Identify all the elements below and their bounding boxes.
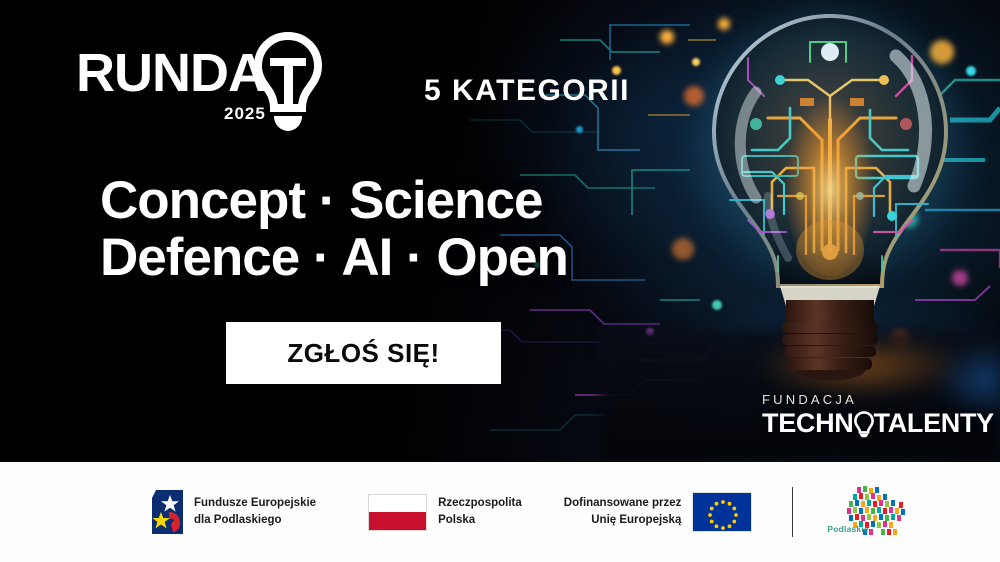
eu-line-2: Unię Europejską	[564, 512, 682, 529]
rzeczpospolita-line-1: Rzeczpospolita	[438, 495, 522, 512]
foundation-name: TECHN TALENTY	[762, 408, 977, 439]
wordmark-text: RUNDA	[76, 48, 266, 99]
rzeczpospolita-line-2: Polska	[438, 512, 522, 529]
bulb-glow	[690, 10, 970, 300]
foundation-prefix: FUNDACJA	[762, 392, 977, 407]
lightbulb-icon	[854, 411, 874, 438]
foundation-logo: FUNDACJA TECHN TALENTY	[762, 392, 977, 439]
footer-logo-podlaskie: Podlaskie	[827, 483, 919, 541]
headline: Concept · Science Defence · AI · Open	[100, 172, 568, 286]
foundation-name-part2: TALENTY	[874, 408, 994, 439]
apply-button[interactable]: ZGŁOŚ SIĘ!	[226, 322, 501, 384]
eu-funding-label: Dofinansowane przez Unię Europejską	[564, 495, 682, 528]
fundusze-line-2: dla Podlaskiego	[194, 512, 316, 529]
lightbulb-t-icon	[252, 32, 324, 136]
promo-banner: RUNDA 2025 5 KATEGORII Concept · Science…	[0, 0, 1000, 562]
foundation-name-part1: TECHN	[762, 408, 854, 439]
circuit-lightbulb-artwork	[660, 0, 1000, 400]
eu-line-1: Dofinansowane przez	[564, 495, 682, 512]
rzeczpospolita-label: Rzeczpospolita Polska	[438, 495, 522, 528]
footer-divider	[792, 487, 793, 537]
eu-flag-icon	[692, 492, 752, 532]
wordmark: RUNDA 2025	[76, 48, 266, 99]
glow-dot	[576, 126, 583, 133]
fundusze-europejskie-label: Fundusze Europejskie dla Podlaskiego	[194, 495, 316, 528]
headline-line-2: Defence · AI · Open	[100, 229, 568, 286]
fundusze-europejskie-mark	[152, 490, 183, 534]
funding-footer: Fundusze Europejskie dla Podlaskiego Rze…	[0, 462, 1000, 562]
fundusze-line-1: Fundusze Europejskie	[194, 495, 316, 512]
categories-count: 5 KATEGORII	[424, 74, 630, 108]
podlaskie-label: Podlaskie	[827, 524, 869, 534]
footer-logo-european-union: Dofinansowane przez Unię Europejską	[564, 492, 753, 532]
hero-section: RUNDA 2025 5 KATEGORII Concept · Science…	[0, 0, 1000, 462]
polish-flag-icon	[368, 494, 427, 531]
footer-logo-rzeczpospolita-polska: Rzeczpospolita Polska	[368, 494, 522, 531]
headline-line-1: Concept · Science	[100, 172, 568, 229]
runda-logo: RUNDA 2025	[76, 48, 324, 136]
footer-logo-fundusze-europejskie: Fundusze Europejskie dla Podlaskiego	[152, 490, 316, 534]
apply-button-label: ZGŁOŚ SIĘ!	[287, 338, 439, 369]
